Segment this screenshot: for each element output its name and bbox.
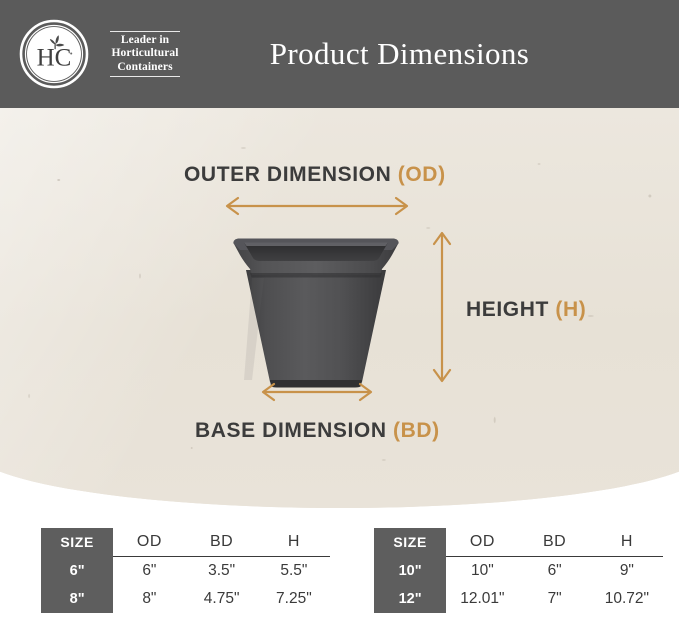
table-row: 12" 12.01" 7" 10.72" <box>374 585 663 613</box>
cell-h: 7.25" <box>258 585 330 613</box>
table-sizes-small: SIZE OD BD H 6" 6" 3.5" 5.5" 8" <box>41 528 330 613</box>
page-title: Product Dimensions <box>0 0 679 108</box>
col-header-bd: BD <box>186 528 258 557</box>
base-dimension-arrow-icon <box>258 382 376 402</box>
cell-bd: 3.5" <box>186 557 258 586</box>
size-table-large: SIZE OD BD H 10" 10" 6" 9" 12" <box>374 528 663 628</box>
cell-od: 12.01" <box>446 585 518 613</box>
col-header-od: OD <box>446 528 518 557</box>
cell-size: 10" <box>374 557 446 586</box>
col-header-h: H <box>591 528 663 557</box>
cell-bd: 4.75" <box>186 585 258 613</box>
base-dimension-abbr: (BD) <box>393 419 440 442</box>
outer-dimension-arrow-icon <box>222 196 412 216</box>
height-arrow-icon <box>432 228 452 386</box>
col-header-size: SIZE <box>374 528 446 557</box>
table-header-row: SIZE OD BD H <box>41 528 330 557</box>
cell-h: 10.72" <box>591 585 663 613</box>
outer-dimension-text: OUTER DIMENSION <box>184 163 391 186</box>
base-dimension-label: BASE DIMENSION (BD) <box>195 419 440 443</box>
height-abbr: (H) <box>555 298 586 321</box>
cell-od: 8" <box>113 585 185 613</box>
table-row: 10" 10" 6" 9" <box>374 557 663 586</box>
table-row: 6" 6" 3.5" 5.5" <box>41 557 330 586</box>
height-text: HEIGHT <box>466 298 549 321</box>
cell-bd: 6" <box>519 557 591 586</box>
cell-size: 12" <box>374 585 446 613</box>
cell-size: 8" <box>41 585 113 613</box>
height-label: HEIGHT (H) <box>466 298 586 322</box>
cell-od: 10" <box>446 557 518 586</box>
header-bar: HC Leader in Horticultural Containers Pr… <box>0 0 679 108</box>
col-header-h: H <box>258 528 330 557</box>
base-dimension-text: BASE DIMENSION <box>195 419 387 442</box>
col-header-od: OD <box>113 528 185 557</box>
outer-dimension-abbr: (OD) <box>398 163 446 186</box>
cell-od: 6" <box>113 557 185 586</box>
page-title-text: Product Dimensions <box>270 36 530 72</box>
cell-bd: 7" <box>519 585 591 613</box>
cell-size: 6" <box>41 557 113 586</box>
cell-h: 5.5" <box>258 557 330 586</box>
outer-dimension-label: OUTER DIMENSION (OD) <box>184 163 446 187</box>
size-table-small: SIZE OD BD H 6" 6" 3.5" 5.5" 8" <box>41 528 330 628</box>
size-tables: SIZE OD BD H 6" 6" 3.5" 5.5" 8" <box>0 528 679 636</box>
table-row: 8" 8" 4.75" 7.25" <box>41 585 330 613</box>
product-dimensions-infographic: HC Leader in Horticultural Containers Pr… <box>0 0 679 636</box>
col-header-bd: BD <box>519 528 591 557</box>
planter-pot-illustration <box>222 228 410 388</box>
table-header-row: SIZE OD BD H <box>374 528 663 557</box>
col-header-size: SIZE <box>41 528 113 557</box>
cell-h: 9" <box>591 557 663 586</box>
table-sizes-large: SIZE OD BD H 10" 10" 6" 9" 12" <box>374 528 663 613</box>
